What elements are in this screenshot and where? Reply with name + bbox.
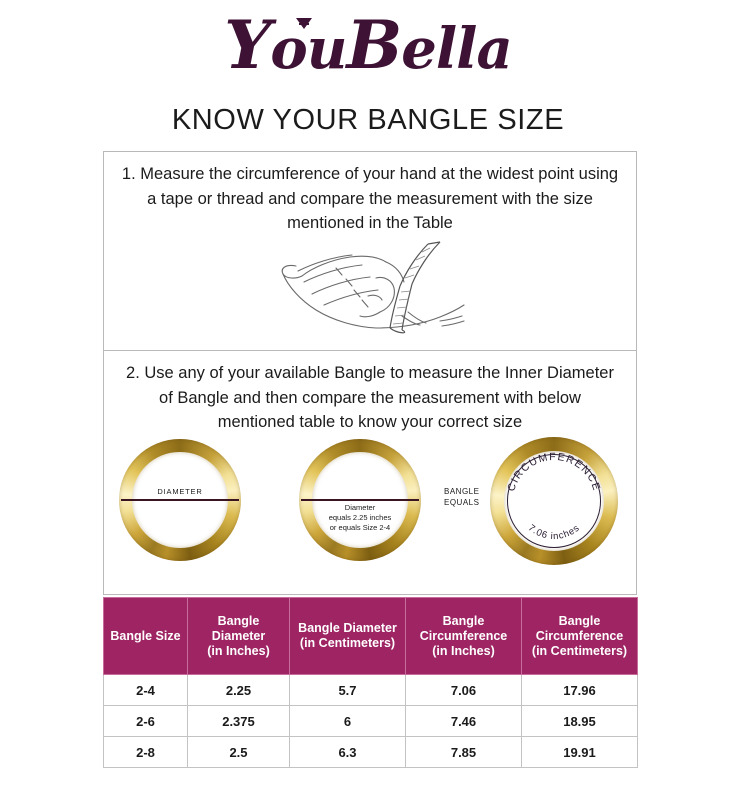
header-line: (in Centimeters) xyxy=(524,644,635,659)
header-line: Bangle xyxy=(190,614,287,629)
header-line: Bangle xyxy=(524,614,635,629)
cell-circumference-inches: 7.85 xyxy=(406,737,522,768)
column-header-circumference-inches: Bangle Circumference (in Inches) xyxy=(406,598,522,675)
svg-text:CIRCUMFERENCE: CIRCUMFERENCE xyxy=(505,451,602,493)
bangle-equals-line-2: EQUALS xyxy=(444,497,479,508)
cell-circumference-cm: 17.96 xyxy=(522,675,638,706)
cell-bangle-size: 2-4 xyxy=(104,675,188,706)
bangle-diameter-value-diagram: Diameter equals 2.25 inches or equals Si… xyxy=(299,439,421,561)
bangle-equals-line-1: BANGLE xyxy=(444,486,479,497)
brand-logo: YouBella xyxy=(0,14,736,80)
table-row: 2-6 2.375 6 7.46 18.95 xyxy=(104,706,638,737)
diamond-icon xyxy=(296,18,312,29)
brand-name-y: Y xyxy=(224,6,270,84)
table-body: 2-4 2.25 5.7 7.06 17.96 2-6 2.375 6 7.46… xyxy=(104,675,638,768)
cell-diameter-inches: 2.375 xyxy=(188,706,290,737)
cell-diameter-cm: 6 xyxy=(290,706,406,737)
table-header-row: Bangle Size Bangle Diameter (in Inches) … xyxy=(104,598,638,675)
header-line: Circumference xyxy=(408,629,519,644)
header-line: Bangle Diameter xyxy=(292,621,403,636)
cell-circumference-cm: 19.91 xyxy=(522,737,638,768)
cell-circumference-cm: 18.95 xyxy=(522,706,638,737)
bangle-diagrams: DIAMETER Diameter equals 2.25 inches or … xyxy=(104,437,636,582)
cell-diameter-cm: 5.7 xyxy=(290,675,406,706)
diameter-line xyxy=(301,499,418,501)
cell-bangle-size: 2-8 xyxy=(104,737,188,768)
brand-name-ella: ella xyxy=(401,16,511,82)
diameter-label: DIAMETER xyxy=(119,487,241,496)
step-1-section: 1. Measure the circumference of your han… xyxy=(104,152,636,351)
diameter-value-line-1: Diameter xyxy=(299,503,421,513)
header-line: Circumference xyxy=(524,629,635,644)
diameter-value-line-2: equals 2.25 inches xyxy=(299,513,421,523)
bangle-equals-label: BANGLE EQUALS xyxy=(444,486,479,508)
header-line: (in Inches) xyxy=(190,644,287,659)
bangle-diameter-diagram: DIAMETER xyxy=(119,439,241,561)
column-header-bangle-size: Bangle Size xyxy=(104,598,188,675)
instructions-frame: 1. Measure the circumference of your han… xyxy=(103,151,637,595)
column-header-diameter-inches: Bangle Diameter (in Inches) xyxy=(188,598,290,675)
hand-with-tape-measure-illustration xyxy=(104,224,636,344)
cell-diameter-inches: 2.25 xyxy=(188,675,290,706)
cell-circumference-inches: 7.46 xyxy=(406,706,522,737)
svg-text:7.06 inches: 7.06 inches xyxy=(526,522,582,542)
diameter-value-line-3: or equals Size 2-4 xyxy=(299,523,421,533)
page-title: KNOW YOUR BANGLE SIZE xyxy=(0,104,736,137)
bangle-size-table: Bangle Size Bangle Diameter (in Inches) … xyxy=(103,597,637,768)
bangle-size-guide-page: YouBella KNOW YOUR BANGLE SIZE 1. Measur… xyxy=(0,0,736,800)
cell-diameter-inches: 2.5 xyxy=(188,737,290,768)
cell-diameter-cm: 6.3 xyxy=(290,737,406,768)
column-header-diameter-centimeters: Bangle Diameter (in Centimeters) xyxy=(290,598,406,675)
step-1-text: 1. Measure the circumference of your han… xyxy=(104,152,636,236)
header-line: Bangle Size xyxy=(106,629,185,644)
header-line: Diameter xyxy=(190,629,287,644)
table-row: 2-4 2.25 5.7 7.06 17.96 xyxy=(104,675,638,706)
circumference-arc-text: CIRCUMFERENCE 7.06 inches xyxy=(490,437,618,565)
step-2-text: 2. Use any of your available Bangle to m… xyxy=(104,351,636,435)
step-2-section: 2. Use any of your available Bangle to m… xyxy=(104,351,636,594)
bangle-circumference-diagram: CIRCUMFERENCE 7.06 inches xyxy=(490,437,618,565)
header-line: Bangle xyxy=(408,614,519,629)
brand-name: YouBella xyxy=(224,14,511,80)
table-row: 2-8 2.5 6.3 7.85 19.91 xyxy=(104,737,638,768)
column-header-circumference-centimeters: Bangle Circumference (in Centimeters) xyxy=(522,598,638,675)
brand-name-b: B xyxy=(346,6,401,84)
diameter-line xyxy=(121,499,238,501)
cell-bangle-size: 2-6 xyxy=(104,706,188,737)
header-line: (in Inches) xyxy=(408,644,519,659)
diameter-value-text: Diameter equals 2.25 inches or equals Si… xyxy=(299,503,421,533)
cell-circumference-inches: 7.06 xyxy=(406,675,522,706)
header-line: (in Centimeters) xyxy=(292,636,403,651)
